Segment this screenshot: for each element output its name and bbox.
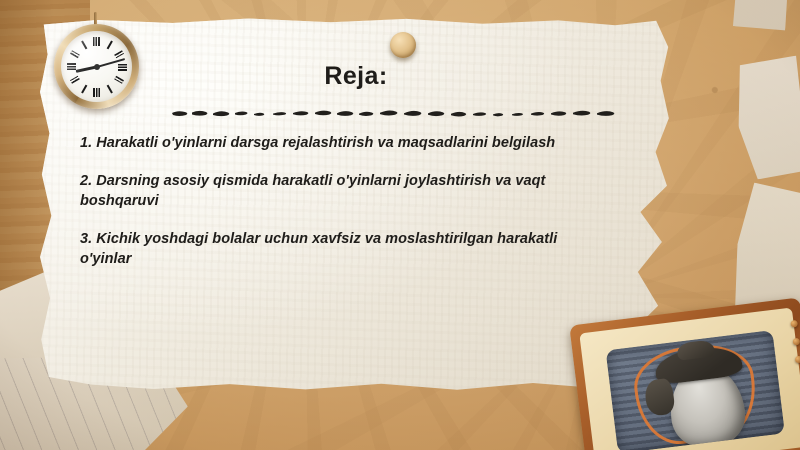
tv-screen [606,330,785,450]
tv-knob[interactable] [790,320,798,328]
clock-rim [54,24,139,109]
tv-mat-border [579,307,800,450]
clock-center-cap [94,64,100,70]
dashed-divider-icon [170,105,625,121]
list-item: 2. Darsning asosiy qismida harakatli o'y… [80,171,585,212]
tv-knob[interactable] [792,338,800,346]
list-item: 1. Harakatli o'yinlarni darsga rejalasht… [80,133,585,154]
agenda-list: 1. Harakatli o'yinlarni darsga rejalasht… [80,133,585,287]
push-pin [390,32,416,58]
clock-face [61,31,132,102]
tv-knob[interactable] [795,356,800,364]
list-item: 3. Kichik yoshdagi bolalar uchun xavfsiz… [80,229,585,270]
wall-clock [50,16,142,112]
